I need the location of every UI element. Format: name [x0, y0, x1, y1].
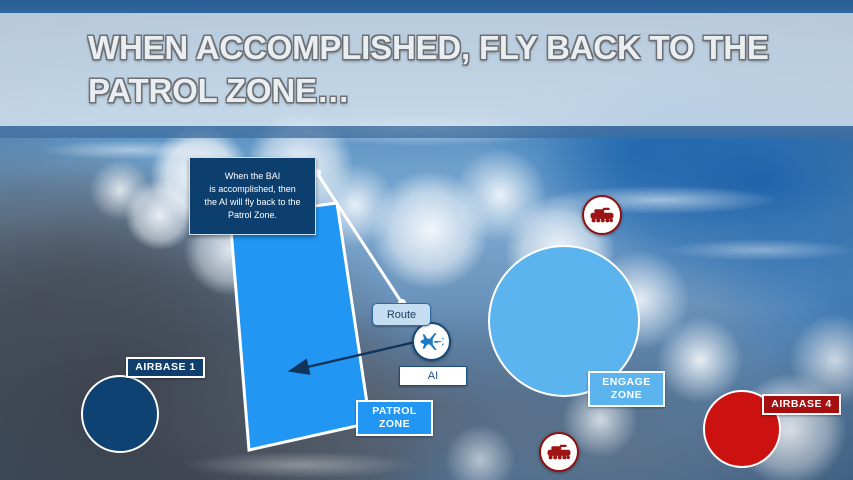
- armored-vehicle-glyph: [546, 442, 572, 462]
- presentation-slide: WHEN ACCOMPLISHED, FLY BACK TO THE PATRO…: [0, 0, 853, 480]
- fighter-jet-icon[interactable]: [412, 322, 451, 361]
- armored-vehicle-glyph: [589, 205, 615, 225]
- route-label[interactable]: Route: [372, 303, 431, 326]
- callout-box: When the BAI is accomplished, then the A…: [189, 157, 316, 235]
- ai-label[interactable]: AI: [399, 366, 467, 386]
- title-underline-strip: [0, 126, 853, 138]
- patrol-zone-label[interactable]: PATROL ZONE: [356, 400, 433, 436]
- airbase-1-label[interactable]: AIRBASE 1: [126, 357, 205, 378]
- fighter-jet-glyph: [418, 328, 445, 355]
- airbase-1-shape[interactable]: [81, 375, 159, 453]
- slide-title: WHEN ACCOMPLISHED, FLY BACK TO THE PATRO…: [88, 27, 788, 113]
- engage-zone-label[interactable]: ENGAGE ZONE: [588, 371, 665, 407]
- armored-vehicle-icon[interactable]: [582, 195, 622, 235]
- airbase-4-label[interactable]: AIRBASE 4: [762, 394, 841, 415]
- top-accent-strip: [0, 0, 853, 13]
- armored-vehicle-icon[interactable]: [539, 432, 579, 472]
